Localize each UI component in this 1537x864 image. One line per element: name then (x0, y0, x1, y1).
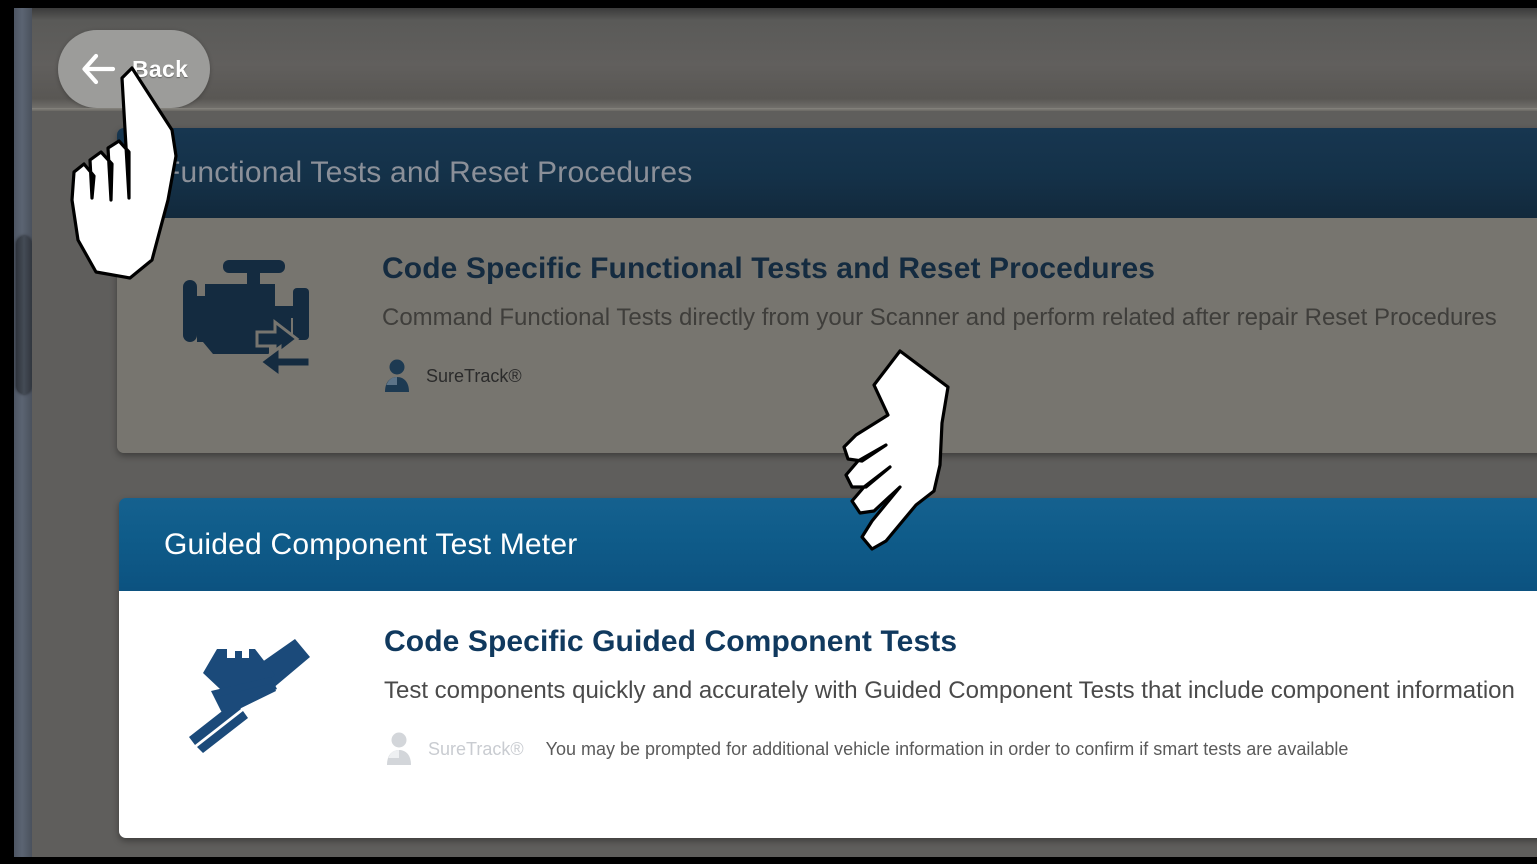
card-description: Test components quickly and accurately w… (384, 677, 1537, 705)
card-functional-tests[interactable]: Functional Tests and Reset Procedures (117, 128, 1537, 453)
engine-with-arrows-icon (175, 254, 325, 453)
card-text-column: Code Specific Functional Tests and Reset… (382, 240, 1537, 453)
arrow-left-icon (80, 52, 118, 86)
top-toolbar: Back (32, 8, 1537, 111)
suretrack-person-icon (382, 358, 412, 394)
left-rail (14, 8, 32, 857)
card-header-guided-component-test-meter: Guided Component Test Meter (119, 498, 1537, 591)
card-description: Command Functional Tests directly from y… (382, 304, 1537, 332)
vertical-scrollbar-thumb[interactable] (16, 236, 32, 394)
suretrack-note: You may be prompted for additional vehic… (546, 739, 1349, 760)
card-header-title: Functional Tests and Reset Procedures (162, 156, 692, 190)
card-header-title: Guided Component Test Meter (164, 528, 577, 562)
card-body-functional-tests[interactable]: Code Specific Functional Tests and Reset… (117, 218, 1537, 453)
suretrack-row: SureTrack® You may be prompted for addit… (384, 731, 1537, 767)
suretrack-person-icon (384, 731, 414, 767)
content-area: Functional Tests and Reset Procedures (32, 111, 1537, 857)
card-guided-component-test-meter[interactable]: Guided Component Test Meter (119, 498, 1537, 838)
suretrack-label: SureTrack® (428, 739, 524, 760)
test-probe-clip-icon (177, 627, 327, 838)
back-button[interactable]: Back (58, 30, 210, 108)
card-icon-column (117, 240, 382, 453)
card-title: Code Specific Functional Tests and Reset… (382, 252, 1537, 286)
card-title: Code Specific Guided Component Tests (384, 625, 1537, 659)
card-header-functional-tests: Functional Tests and Reset Procedures (117, 128, 1537, 218)
suretrack-label: SureTrack® (426, 366, 522, 387)
card-text-column: Code Specific Guided Component Tests Tes… (384, 613, 1537, 838)
app-frame: Back Functional Tests and Reset Procedur… (14, 8, 1537, 857)
suretrack-row: SureTrack® (382, 358, 1537, 394)
card-icon-column (119, 613, 384, 838)
back-button-label: Back (132, 56, 188, 83)
screen-root: Back Functional Tests and Reset Procedur… (0, 0, 1537, 864)
card-body-guided-component-tests[interactable]: Code Specific Guided Component Tests Tes… (119, 591, 1537, 838)
